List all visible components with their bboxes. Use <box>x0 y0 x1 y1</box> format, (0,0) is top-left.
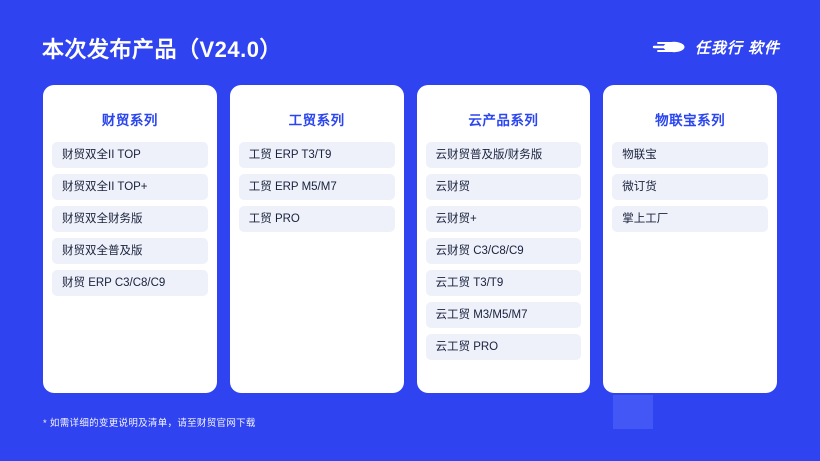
slide-root: 本次发布产品（V24.0） 任我行 软件 财贸系列 财贸双全II TOP 财贸双… <box>0 0 820 461</box>
card-item-list: 云财贸普及版/财务版 云财贸 云财贸+ 云财贸 C3/C8/C9 云工贸 T3/… <box>426 142 582 360</box>
decorative-square <box>613 395 653 429</box>
product-item[interactable]: 工贸 ERP T3/T9 <box>239 142 395 168</box>
speed-swoosh-icon <box>652 39 686 55</box>
product-item[interactable]: 财贸 ERP C3/C8/C9 <box>52 270 208 296</box>
product-item[interactable]: 云财贸普及版/财务版 <box>426 142 582 168</box>
product-item[interactable]: 工贸 PRO <box>239 206 395 232</box>
product-item[interactable]: 云工贸 PRO <box>426 334 582 360</box>
brand-logo: 任我行 软件 <box>652 36 780 58</box>
card-item-list: 财贸双全II TOP 财贸双全II TOP+ 财贸双全财务版 财贸双全普及版 财… <box>52 142 208 296</box>
slide-header: 本次发布产品（V24.0） 任我行 软件 <box>0 0 820 85</box>
footnote-text: * 如需详细的变更说明及清单，请至财贸官网下载 <box>43 415 256 429</box>
product-card-iot: 物联宝系列 物联宝 微订货 掌上工厂 <box>603 85 777 393</box>
product-item[interactable]: 微订货 <box>612 174 768 200</box>
card-title: 财贸系列 <box>52 109 208 129</box>
product-card-list: 财贸系列 财贸双全II TOP 财贸双全II TOP+ 财贸双全财务版 财贸双全… <box>43 85 777 393</box>
card-title: 工贸系列 <box>239 109 395 129</box>
card-title: 物联宝系列 <box>612 109 768 129</box>
product-card-caimao: 财贸系列 财贸双全II TOP 财贸双全II TOP+ 财贸双全财务版 财贸双全… <box>43 85 217 393</box>
product-card-cloud: 云产品系列 云财贸普及版/财务版 云财贸 云财贸+ 云财贸 C3/C8/C9 云… <box>417 85 591 393</box>
page-title: 本次发布产品（V24.0） <box>42 32 282 64</box>
product-item[interactable]: 云财贸 <box>426 174 582 200</box>
product-item[interactable]: 财贸双全普及版 <box>52 238 208 264</box>
brand-name: 任我行 软件 <box>695 37 780 58</box>
card-title: 云产品系列 <box>426 109 582 129</box>
product-item[interactable]: 云财贸 C3/C8/C9 <box>426 238 582 264</box>
product-item[interactable]: 云工贸 M3/M5/M7 <box>426 302 582 328</box>
product-item[interactable]: 掌上工厂 <box>612 206 768 232</box>
product-item[interactable]: 工贸 ERP M5/M7 <box>239 174 395 200</box>
product-item[interactable]: 财贸双全II TOP <box>52 142 208 168</box>
product-item[interactable]: 物联宝 <box>612 142 768 168</box>
card-item-list: 物联宝 微订货 掌上工厂 <box>612 142 768 232</box>
card-item-list: 工贸 ERP T3/T9 工贸 ERP M5/M7 工贸 PRO <box>239 142 395 232</box>
product-item[interactable]: 云工贸 T3/T9 <box>426 270 582 296</box>
product-card-gongmao: 工贸系列 工贸 ERP T3/T9 工贸 ERP M5/M7 工贸 PRO <box>230 85 404 393</box>
product-item[interactable]: 云财贸+ <box>426 206 582 232</box>
product-item[interactable]: 财贸双全II TOP+ <box>52 174 208 200</box>
product-item[interactable]: 财贸双全财务版 <box>52 206 208 232</box>
